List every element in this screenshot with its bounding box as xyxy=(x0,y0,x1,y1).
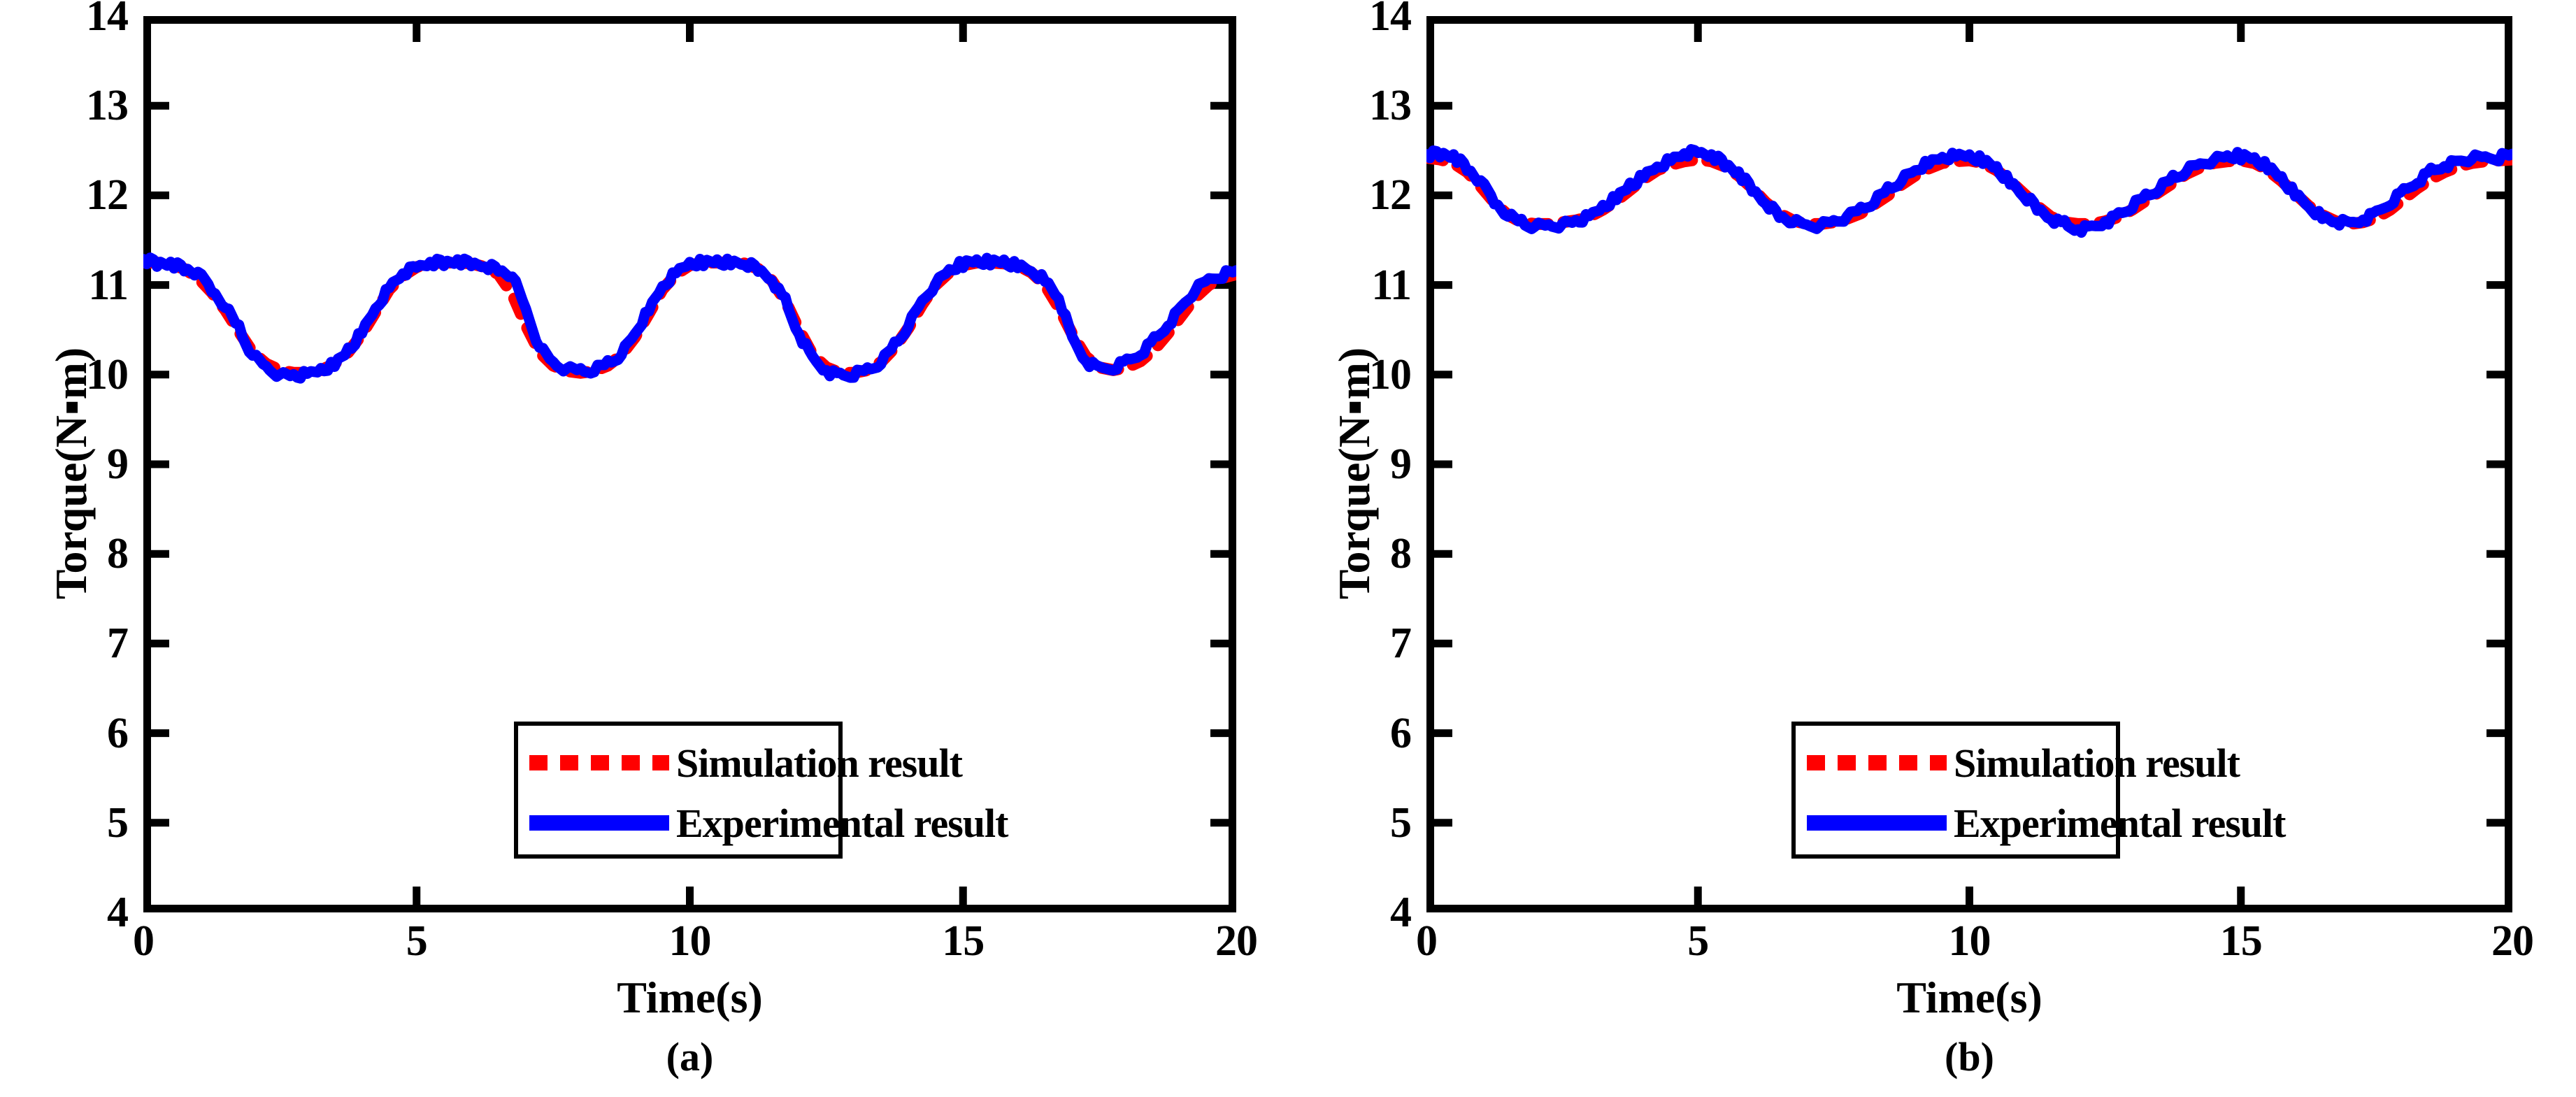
panel-caption-b: (b) xyxy=(1426,1033,2512,1080)
panel-caption-a: (a) xyxy=(143,1033,1236,1080)
legend-swatch-simulation-icon xyxy=(1807,755,1947,770)
legend-row-experimental-a: Experimental result xyxy=(529,793,827,853)
legend-swatch-simulation-icon xyxy=(529,755,669,770)
x-axis-title-a: Time(s) xyxy=(143,972,1236,1024)
chart-panel-a: 1413121110987654 05101520 Torque(N▪m) Ti… xyxy=(0,0,1288,1097)
y-tick-label: 14 xyxy=(0,0,128,38)
x-tick-label: 10 xyxy=(620,919,760,963)
legend-b: Simulation result Experimental result xyxy=(1791,722,2120,859)
legend-label-simulation: Simulation result xyxy=(676,740,962,787)
x-tick-label: 0 xyxy=(1357,919,1496,963)
legend-label-simulation: Simulation result xyxy=(1954,740,2240,787)
figure-root: 1413121110987654 05101520 Torque(N▪m) Ti… xyxy=(0,0,2576,1097)
x-tick-label: 20 xyxy=(2442,919,2576,963)
x-tick-label: 0 xyxy=(73,919,213,963)
x-tick-label: 15 xyxy=(2171,919,2311,963)
legend-label-experimental: Experimental result xyxy=(676,800,1008,847)
x-tick-label: 15 xyxy=(893,919,1033,963)
legend-row-experimental-b: Experimental result xyxy=(1807,793,2105,853)
legend-swatch-experimental-icon xyxy=(1807,815,1947,831)
x-tick-label: 5 xyxy=(347,919,487,963)
y-axis-title-b: Torque(N▪m) xyxy=(1329,89,1380,858)
legend-swatch-experimental-icon xyxy=(529,815,669,831)
x-tick-label: 10 xyxy=(1900,919,2040,963)
x-axis-title-b: Time(s) xyxy=(1426,972,2512,1024)
y-axis-title-a: Torque(N▪m) xyxy=(45,89,97,858)
legend-row-simulation-b: Simulation result xyxy=(1807,733,2105,793)
legend-label-experimental: Experimental result xyxy=(1954,800,2285,847)
legend-a: Simulation result Experimental result xyxy=(514,722,843,859)
y-tick-label: 14 xyxy=(1271,0,1411,38)
legend-row-simulation-a: Simulation result xyxy=(529,733,827,793)
chart-panel-b: 1413121110987654 05101520 Torque(N▪m) Ti… xyxy=(1288,0,2576,1097)
x-tick-label: 5 xyxy=(1628,919,1768,963)
